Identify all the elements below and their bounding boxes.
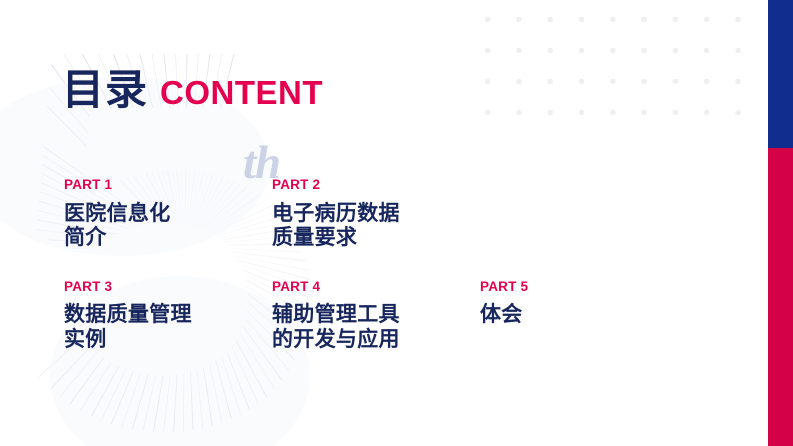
part-title-line: 简介	[64, 225, 254, 250]
page-title: 目录 CONTENT	[62, 69, 323, 111]
part-title: 辅助管理工具 的开发与应用	[272, 302, 462, 351]
page-title-cn: 目录	[62, 69, 148, 111]
part-title-line: 医院信息化	[64, 201, 254, 226]
table-of-contents: PART 1 医院信息化 简介 PART 2 电子病历数据 质量要求 PART …	[64, 178, 724, 351]
part-label: PART 4	[272, 280, 480, 294]
content-slide: th 目录 CONTENT PART 1 医院信息化 简介 PART 2 电子病…	[0, 0, 793, 446]
toc-item-part-4[interactable]: PART 4 辅助管理工具 的开发与应用	[272, 280, 480, 352]
toc-row: PART 3 数据质量管理 实例 PART 4 辅助管理工具 的开发与应用 PA…	[64, 280, 724, 352]
part-title-line: 电子病历数据	[272, 201, 462, 226]
toc-row: PART 1 医院信息化 简介 PART 2 电子病历数据 质量要求	[64, 178, 724, 250]
toc-item-placeholder	[480, 178, 688, 250]
part-label: PART 5	[480, 280, 688, 294]
toc-item-part-1[interactable]: PART 1 医院信息化 简介	[64, 178, 272, 250]
part-title: 体会	[480, 302, 670, 327]
part-title-line: 辅助管理工具	[272, 302, 462, 327]
right-edge-blue-bar	[768, 0, 793, 148]
part-title: 数据质量管理 实例	[64, 302, 254, 351]
toc-item-part-5[interactable]: PART 5 体会	[480, 280, 688, 352]
toc-item-part-3[interactable]: PART 3 数据质量管理 实例	[64, 280, 272, 352]
part-title-line: 数据质量管理	[64, 302, 254, 327]
part-title-line: 体会	[480, 302, 670, 327]
part-title-line: 的开发与应用	[272, 327, 462, 352]
right-edge-crimson-bar	[768, 148, 793, 446]
part-title-line: 质量要求	[272, 225, 462, 250]
dot-grid-decoration	[468, 0, 753, 136]
part-label: PART 1	[64, 178, 272, 192]
part-label: PART 3	[64, 280, 272, 294]
part-title-line: 实例	[64, 327, 254, 352]
part-title: 电子病历数据 质量要求	[272, 201, 462, 250]
part-label: PART 2	[272, 178, 480, 192]
page-title-en: CONTENT	[160, 76, 323, 109]
part-title: 医院信息化 简介	[64, 201, 254, 250]
toc-item-part-2[interactable]: PART 2 电子病历数据 质量要求	[272, 178, 480, 250]
